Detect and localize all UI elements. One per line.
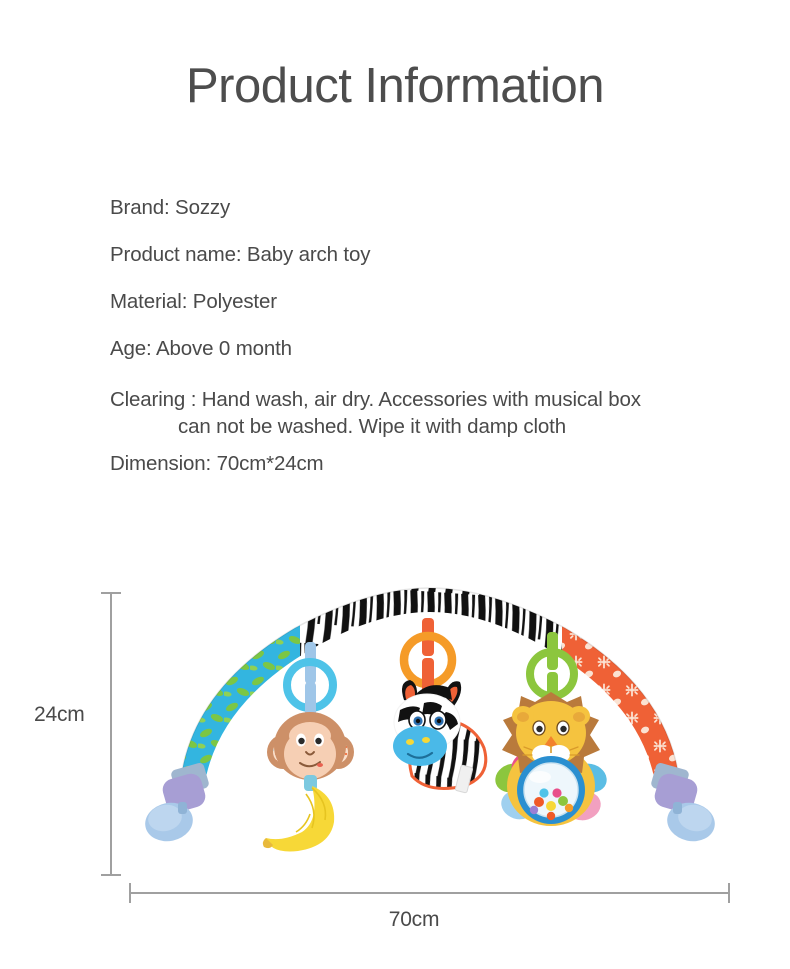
product-image (120, 570, 740, 880)
height-dimension-line (110, 592, 112, 876)
banana-accessory (263, 786, 334, 851)
hanging-toy-monkey (263, 642, 354, 851)
width-dimension-cap-right (728, 883, 730, 903)
height-dimension-label: 24cm (34, 703, 85, 727)
spec-row-brand: Brand: Sozzy (110, 198, 730, 245)
height-dimension-cap-bottom (101, 874, 121, 876)
spec-row-product-name: Product name: Baby arch toy (110, 245, 730, 292)
spec-clearing-line-2: can not be washed. Wipe it with damp clo… (110, 413, 730, 440)
width-dimension-line (129, 892, 730, 894)
spec-row-clearing: Clearing : Hand wash, air dry. Accessori… (110, 386, 730, 440)
spec-row-age: Age: Above 0 month (110, 339, 730, 386)
product-spec-list: Brand: Sozzy Product name: Baby arch toy… (110, 198, 730, 501)
hanging-toy-zebra (393, 618, 486, 793)
page-title: Product Information (0, 62, 790, 111)
clamp-right (650, 762, 718, 846)
width-dimension-cap-left (129, 883, 131, 903)
spec-row-material: Material: Polyester (110, 292, 730, 339)
width-dimension-label: 70cm (0, 908, 790, 932)
clamp-left (142, 762, 210, 846)
spec-clearing-line-1: Clearing : Hand wash, air dry. Accessori… (110, 388, 641, 411)
spec-row-dimension: Dimension: 70cm*24cm (110, 454, 730, 501)
height-dimension-cap-top (101, 592, 121, 594)
